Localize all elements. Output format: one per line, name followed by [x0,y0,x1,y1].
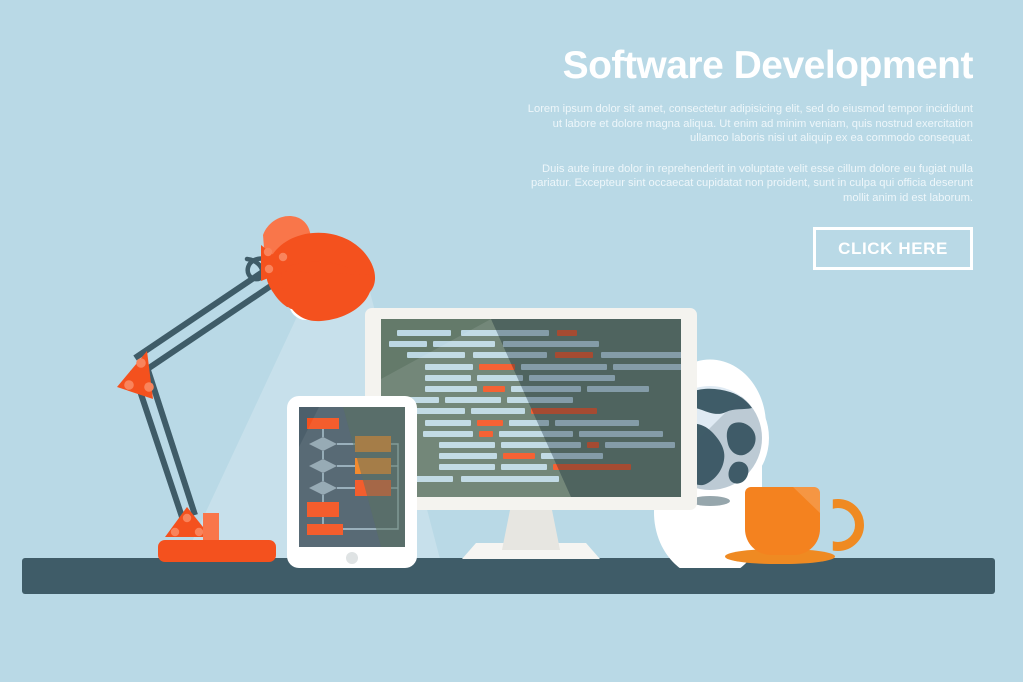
monitor-screen-glare [381,319,681,497]
click-here-button[interactable]: CLICK HERE [813,227,973,270]
monitor-screen [381,319,681,497]
paragraph-2: Duis aute irure dolor in reprehenderit i… [523,162,973,206]
cup-highlight [745,487,820,555]
paragraph-1: Lorem ipsum dolor sit amet, consectetur … [523,102,973,146]
desk-lamp [95,215,395,575]
monitor-stand [502,510,560,550]
text-block: Software Development Lorem ipsum dolor s… [523,44,973,270]
page-title: Software Development [523,44,973,88]
lamp-post [203,513,219,543]
illustration-canvas: Software Development Lorem ipsum dolor s… [0,0,1023,682]
lamp-base [158,540,276,562]
